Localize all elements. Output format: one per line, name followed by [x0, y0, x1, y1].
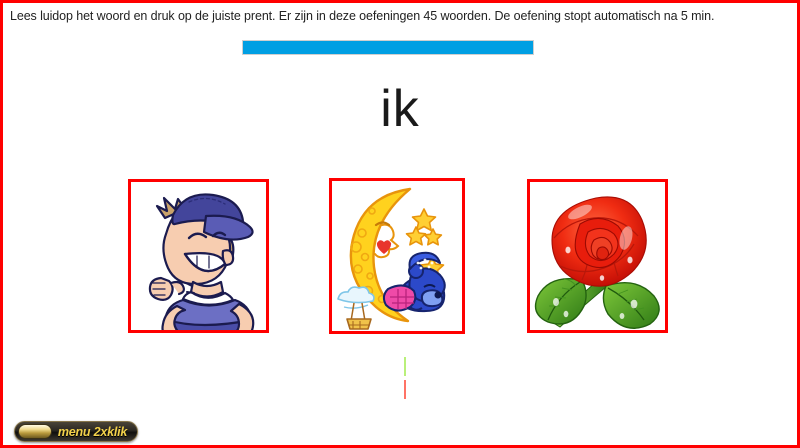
menu-button-label: menu 2xklik — [52, 425, 137, 439]
boy-icon — [131, 182, 266, 330]
feedback-incorrect-marker — [404, 380, 406, 399]
rose-icon — [530, 182, 665, 330]
progress-bar — [242, 40, 534, 55]
menu-knob-icon — [18, 424, 52, 439]
instruction-text: Lees luidop het woord en druk op de juis… — [10, 8, 790, 24]
feedback-correct-marker — [404, 357, 406, 376]
exercise-screen: Lees luidop het woord en druk op de juis… — [0, 0, 800, 448]
picture-choice-moon[interactable] — [329, 178, 465, 334]
progress-bar-fill — [243, 41, 533, 54]
moon-icon — [332, 181, 462, 331]
picture-choice-boy[interactable] — [128, 179, 269, 333]
menu-button[interactable]: menu 2xklik — [14, 421, 138, 442]
picture-choice-rose[interactable] — [527, 179, 668, 333]
target-word: ik — [3, 79, 797, 139]
